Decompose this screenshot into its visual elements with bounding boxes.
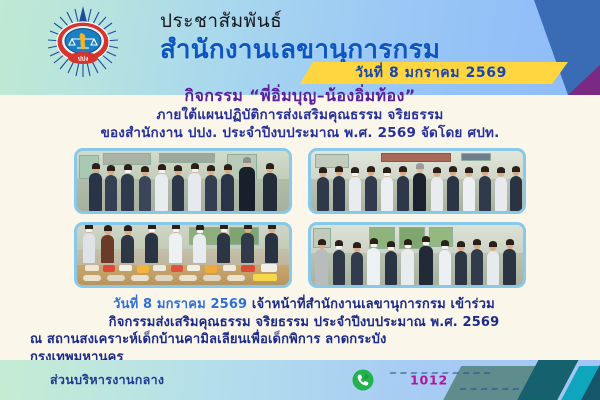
description-line-3: ณ สถานสงเคราะห์เด็กบ้านคามิลเลียนเพื่อเด… [30,331,578,349]
photo-group-corridor [308,148,526,214]
poster-canvas: ปปง ประชาสัมพันธ์ สำนักงานเลขานุการกรม ว… [0,0,600,400]
header-text-group: ประชาสัมพันธ์ สำนักงานเลขานุการกรม [160,8,580,66]
header-subtitle: ประชาสัมพันธ์ [160,8,580,34]
photo-group-outdoor [308,222,526,288]
date-ribbon-label: วันที่ 8 มกราคม 2569 [355,62,513,84]
footer-dashed-line-2 [459,388,540,390]
footer-bar: ส่วนบริหารงานกลาง 1012 [0,360,600,400]
description-line-1: วันที่ 8 มกราคม 2569 เจ้าหน้าที่สำนักงาน… [30,296,578,314]
footer-department-label: ส่วนบริหารงานกลาง [50,370,164,390]
header-banner: ปปง ประชาสัมพันธ์ สำนักงานเลขานุการกรม ว… [0,0,600,95]
activity-subtitle-1: ภายใต้แผนปฏิบัติการส่งเสริมคุณธรรม จริยธ… [0,106,600,124]
description-block: วันที่ 8 มกราคม 2569 เจ้าหน้าที่สำนักงาน… [30,296,578,366]
photo-ceremony-microphone [74,148,292,214]
phone-call-icon [352,369,374,391]
activity-subtitle-2: ของสำนักงาน ปปง. ประจำปีงบประมาณ พ.ศ. 25… [0,124,600,142]
date-ribbon: วันที่ 8 มกราคม 2569 [300,62,568,84]
description-line-1-rest: เจ้าหน้าที่สำนักงานเลขานุการกรม เข้าร่วม [247,297,495,312]
photo-food-preparation [74,222,292,288]
description-line-2: กิจกรรมส่งเสริมคุณธรรม จริยธรรม ประจำปีง… [30,314,578,332]
activity-title: กิจกรรม “พี่อิ่มบุญ–น้องอิ่มท้อง” [0,86,600,106]
photo-grid [74,148,526,288]
header-title: สำนักงานเลขานุการกรม [160,34,580,66]
description-date: วันที่ 8 มกราคม 2569 [113,297,247,312]
title-block: กิจกรรม “พี่อิ่มบุญ–น้องอิ่มท้อง” ภายใต้… [0,86,600,142]
footer-hotline-number: 1012 [410,373,448,388]
nacc-emblem: ปปง [30,6,136,78]
svg-text:ปปง: ปปง [78,55,89,63]
